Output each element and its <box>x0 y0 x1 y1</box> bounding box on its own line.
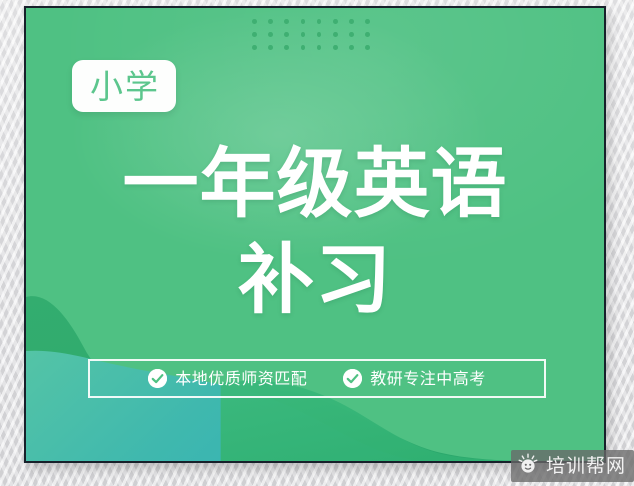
dot <box>252 45 257 50</box>
dot <box>333 45 338 50</box>
dot <box>349 45 354 50</box>
check-circle-icon <box>148 369 167 388</box>
dot <box>365 32 370 37</box>
dot <box>317 45 322 50</box>
dot-row <box>252 45 370 50</box>
dot <box>268 32 273 37</box>
dot <box>268 45 273 50</box>
dot <box>252 19 257 24</box>
sun-face-icon <box>517 453 539 479</box>
feature-label-1: 本地优质师资匹配 <box>175 371 307 387</box>
dot <box>301 45 306 50</box>
grade-level-badge: 小学 <box>72 60 176 112</box>
dot <box>301 32 306 37</box>
dot <box>284 32 289 37</box>
dot <box>349 19 354 24</box>
dot <box>252 32 257 37</box>
site-watermark: 培训帮网 <box>511 450 634 482</box>
check-circle-icon <box>343 369 362 388</box>
poster-card: 小学 一年级英语 补习 本地优质师资匹配 教研专注中高考 <box>24 6 606 463</box>
headline-line-1: 一年级英语 <box>26 144 604 224</box>
dot <box>284 19 289 24</box>
feature-item-2: 教研专注中高考 <box>343 369 486 388</box>
feature-item-1: 本地优质师资匹配 <box>148 369 307 388</box>
dot <box>317 19 322 24</box>
dot <box>317 32 322 37</box>
feature-label-2: 教研专注中高考 <box>370 371 486 387</box>
dot-grid-decoration <box>252 19 370 53</box>
dot <box>349 32 354 37</box>
dot <box>301 19 306 24</box>
dot-row <box>252 32 370 37</box>
dot <box>333 32 338 37</box>
dot <box>333 19 338 24</box>
dot <box>284 45 289 50</box>
dot-row <box>252 19 370 24</box>
headline-line-2: 补习 <box>26 240 604 320</box>
dot <box>365 19 370 24</box>
feature-bar: 本地优质师资匹配 教研专注中高考 <box>88 359 546 398</box>
grade-level-badge-label: 小学 <box>88 70 160 103</box>
dot <box>365 45 370 50</box>
dot <box>268 19 273 24</box>
site-watermark-text: 培训帮网 <box>546 457 626 476</box>
